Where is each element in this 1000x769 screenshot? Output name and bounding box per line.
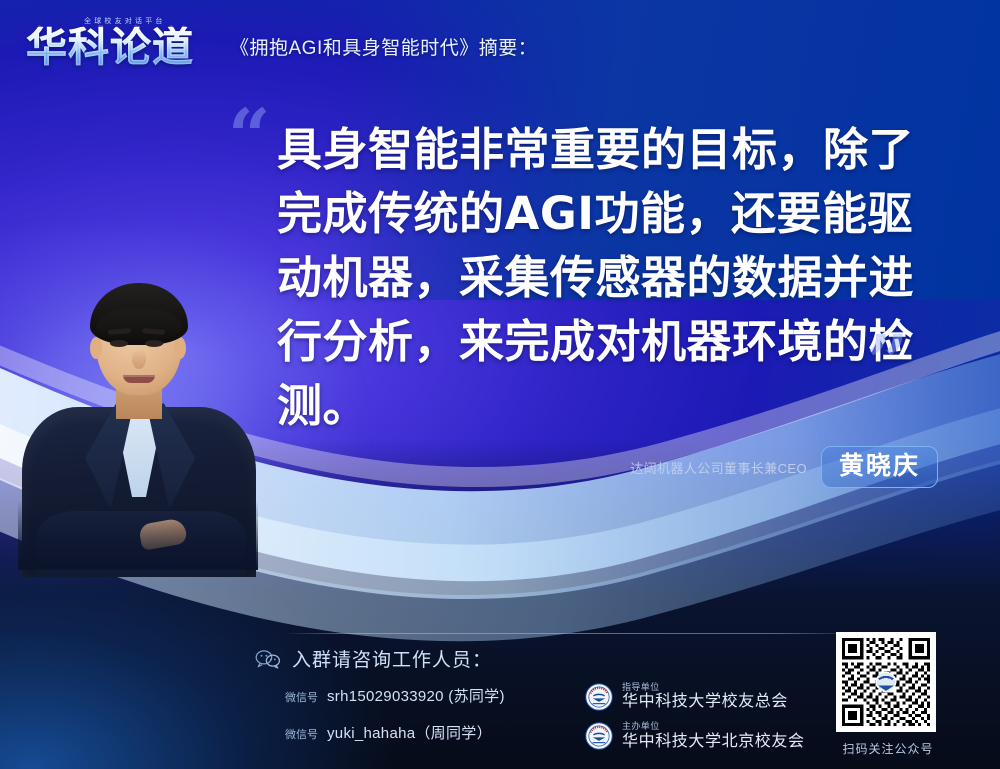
organization-text: 主办单位 华中科技大学北京校友会	[622, 722, 805, 750]
contact-value[interactable]: yuki_hahaha（周同学）	[327, 722, 492, 743]
portrait-ear-left	[90, 337, 102, 359]
quote-close-mark: ”	[866, 326, 909, 400]
footer-body: 微信号 srh15029033920 (苏同学) 微信号 yuki_hahaha…	[255, 681, 815, 761]
contact-value[interactable]: srh15029033920 (苏同学)	[327, 685, 505, 706]
organization-kind: 指导单位	[622, 683, 788, 692]
organization-list: 指导单位 华中科技大学校友总会 主办单位	[585, 681, 805, 761]
speaker-portrait	[18, 285, 258, 570]
brand-logo[interactable]: 全球校友对话平台 华科论道	[26, 18, 214, 68]
quote-text: 具身智能非常重要的目标，除了完成传统的AGI功能，还要能驱动机器，采集传感器的数…	[277, 118, 937, 437]
hust-seal-icon	[585, 683, 613, 711]
quote-open-mark: “	[228, 100, 271, 174]
organization-text: 指导单位 华中科技大学校友总会	[622, 683, 788, 711]
footer: 入群请咨询工作人员： 微信号 srh15029033920 (苏同学) 微信号 …	[255, 645, 815, 761]
footer-divider	[283, 633, 863, 634]
portrait-mouth	[123, 375, 155, 383]
portrait-nose	[132, 349, 146, 369]
portrait-bottom-fade	[18, 500, 258, 570]
portrait-hair	[90, 283, 188, 345]
qr-caption: 扫码关注公众号	[836, 740, 940, 757]
speaker-name-badge: 黄晓庆	[821, 446, 938, 488]
contact-label: 微信号	[285, 726, 318, 742]
organization-name: 华中科技大学北京校友会	[622, 734, 805, 751]
attribution: 达闼机器人公司董事长兼CEO 黄晓庆	[630, 446, 938, 488]
qr-block: 扫码关注公众号	[836, 632, 940, 757]
organization-row: 指导单位 华中科技大学校友总会	[585, 683, 805, 711]
logo-wordmark: 华科论道	[26, 27, 214, 68]
contact-row: 微信号 srh15029033920 (苏同学)	[285, 685, 585, 706]
header: 全球校友对话平台 华科论道 《拥抱AGI和具身智能时代》摘要：	[26, 18, 537, 68]
organization-row: 主办单位 华中科技大学北京校友会	[585, 722, 805, 750]
portrait-eye-right	[145, 340, 163, 347]
footer-heading: 入群请咨询工作人员：	[255, 645, 815, 672]
qr-code-icon[interactable]	[836, 632, 936, 732]
footer-title: 入群请咨询工作人员：	[292, 645, 492, 672]
portrait-ear-right	[174, 337, 186, 359]
wechat-icon	[255, 649, 281, 669]
page-title: 《拥抱AGI和具身智能时代》摘要：	[230, 33, 537, 68]
contact-row: 微信号 yuki_hahaha（周同学）	[285, 722, 585, 743]
contact-label: 微信号	[285, 689, 318, 705]
poster-canvas: 全球校友对话平台 华科论道 《拥抱AGI和具身智能时代》摘要： “ 具身智能非常…	[0, 0, 1000, 769]
portrait-eye-left	[110, 340, 128, 347]
hust-seal-icon	[585, 722, 613, 750]
organization-name: 华中科技大学校友总会	[622, 694, 788, 711]
speaker-role: 达闼机器人公司董事长兼CEO	[630, 458, 807, 477]
organization-kind: 主办单位	[622, 722, 805, 731]
contact-list: 微信号 srh15029033920 (苏同学) 微信号 yuki_hahaha…	[255, 681, 585, 761]
